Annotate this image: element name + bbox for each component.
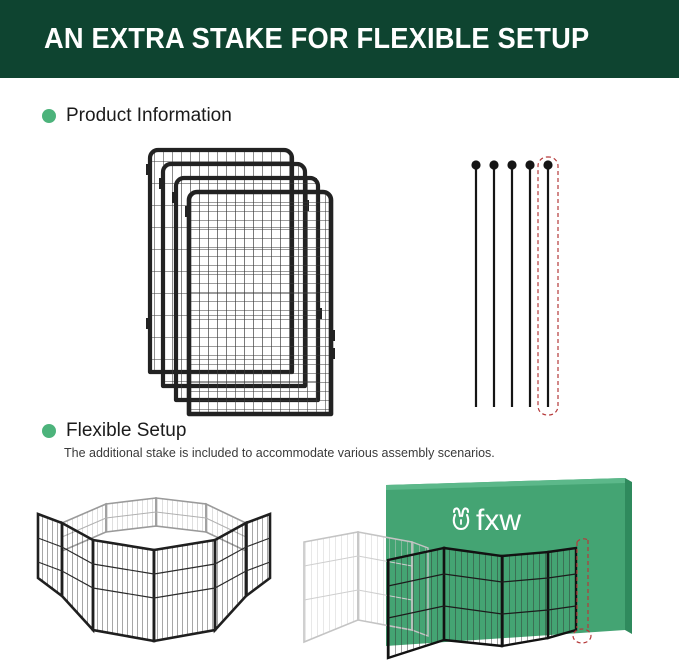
stake-5-extra (543, 160, 552, 407)
wall-mounted-setup-illustration: fxw (300, 470, 672, 662)
front-fence-panels (388, 548, 576, 658)
section-heading-flexible-setup: Flexible Setup (42, 420, 186, 442)
scene-svg: fxw (300, 470, 672, 662)
stakes-svg (462, 155, 577, 417)
stake-4 (525, 160, 534, 407)
pen-panel-front-group (38, 514, 270, 641)
stake-1 (471, 160, 480, 407)
stacked-wire-panels-illustration (128, 140, 358, 420)
section-title-product-information: Product Information (66, 105, 232, 127)
section-description-flexible-setup: The additional stake is included to acco… (64, 446, 495, 460)
fxw-logo-text: fxw (476, 504, 521, 537)
panels-svg (128, 140, 358, 420)
bullet-dot-icon (42, 424, 56, 438)
header-banner: AN EXTRA STAKE FOR FLEXIBLE SETUP (0, 0, 679, 78)
pen-svg (18, 478, 283, 654)
wire-panel-front (185, 192, 335, 414)
section-heading-product-information: Product Information (42, 105, 232, 127)
bullet-dot-icon (42, 109, 56, 123)
stake-3 (507, 160, 516, 407)
ground-stakes-illustration (462, 155, 577, 417)
octagonal-pet-pen-illustration (18, 478, 283, 654)
section-title-flexible-setup: Flexible Setup (66, 420, 186, 442)
stake-2 (489, 160, 498, 407)
page-title: AN EXTRA STAKE FOR FLEXIBLE SETUP (44, 23, 589, 56)
